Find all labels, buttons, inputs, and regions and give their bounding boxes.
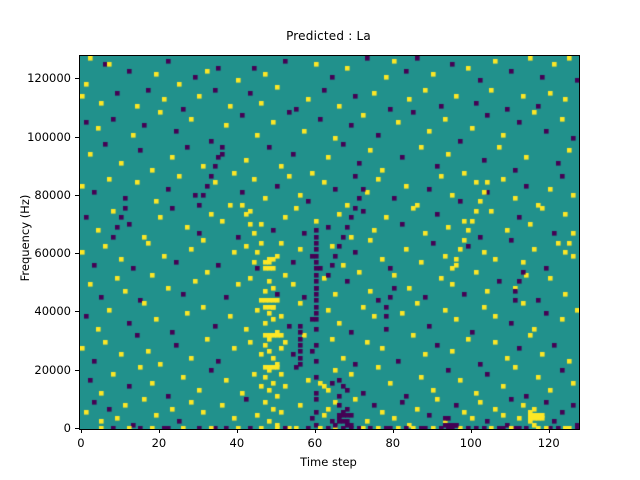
y-axis-label: Frequency (Hz) <box>18 118 32 358</box>
page-title: Predicted : La <box>79 29 578 43</box>
x-tick-label: 40 <box>230 436 245 450</box>
y-tick-label: 100000 <box>27 130 71 144</box>
y-tick-mark <box>75 311 79 312</box>
y-tick-mark <box>75 195 79 196</box>
x-tick-label: 0 <box>77 436 84 450</box>
y-axis-ticks: 020000400006000080000100000120000 <box>0 0 71 480</box>
x-tick-label: 100 <box>460 436 482 450</box>
spectrogram-heatmap <box>80 56 579 429</box>
matplotlib-figure: Predicted : La 020406080100120 020000400… <box>0 0 640 480</box>
y-tick-mark <box>75 370 79 371</box>
y-tick-label: 40000 <box>34 304 71 318</box>
x-tick-mark <box>393 429 394 433</box>
y-tick-mark <box>75 78 79 79</box>
y-tick-mark <box>75 137 79 138</box>
x-tick-label: 120 <box>538 436 560 450</box>
x-tick-label: 60 <box>308 436 323 450</box>
y-tick-mark <box>75 253 79 254</box>
x-tick-mark <box>237 429 238 433</box>
x-tick-label: 80 <box>385 436 400 450</box>
y-tick-mark <box>75 428 79 429</box>
x-tick-mark <box>471 429 472 433</box>
y-tick-label: 60000 <box>34 246 71 260</box>
x-tick-mark <box>81 429 82 433</box>
x-axis-label: Time step <box>79 455 578 469</box>
y-tick-label: 120000 <box>27 71 71 85</box>
x-tick-mark <box>159 429 160 433</box>
x-tick-mark <box>549 429 550 433</box>
y-tick-label: 0 <box>64 421 71 435</box>
plot-axes <box>79 55 580 430</box>
x-tick-mark <box>315 429 316 433</box>
y-tick-label: 20000 <box>34 363 71 377</box>
y-tick-label: 80000 <box>34 188 71 202</box>
x-tick-label: 20 <box>152 436 167 450</box>
